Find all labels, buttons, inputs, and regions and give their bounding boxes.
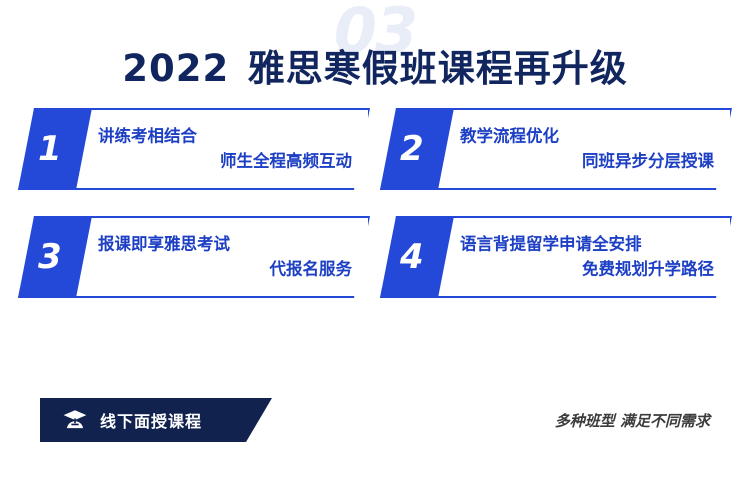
card-number: 2 — [400, 132, 424, 166]
card-line-2: 同班异步分层授课 — [460, 149, 716, 174]
card-line-2: 师生全程高频互动 — [98, 149, 354, 174]
card-text: 语言背提留学申请全安排 免费规划升学路径 — [460, 232, 716, 282]
card-line-1: 语言背提留学申请全安排 — [460, 232, 716, 257]
offline-course-tag[interactable]: 线下面授课程 — [40, 398, 272, 442]
card-text: 讲练考相结合 师生全程高频互动 — [98, 124, 354, 174]
title-year: 2022 — [122, 47, 229, 90]
card-line-2: 代报名服务 — [98, 257, 354, 282]
card-number: 3 — [38, 240, 62, 274]
title-main: 雅思寒假班课程再升级 — [248, 47, 628, 90]
card-number: 4 — [400, 240, 424, 274]
page-title: 2022 雅思寒假班课程再升级 — [0, 38, 750, 92]
feature-card[interactable]: 3 报课即享雅思考试 代报名服务 — [18, 216, 370, 298]
footer: 线下面授课程 多种班型 满足不同需求 — [0, 398, 750, 454]
card-number: 1 — [38, 132, 62, 166]
footer-note: 多种班型 满足不同需求 — [555, 410, 710, 431]
card-line-1: 讲练考相结合 — [98, 124, 354, 149]
card-line-1: 教学流程优化 — [460, 124, 716, 149]
card-text: 报课即享雅思考试 代报名服务 — [98, 232, 354, 282]
card-text: 教学流程优化 同班异步分层授课 — [460, 124, 716, 174]
feature-card[interactable]: 2 教学流程优化 同班异步分层授课 — [380, 108, 732, 190]
card-line-2: 免费规划升学路径 — [460, 257, 716, 282]
header: 03 2022 雅思寒假班课程再升级 — [0, 0, 750, 108]
feature-card-grid: 1 讲练考相结合 师生全程高频互动 2 教学流程优化 同班异步分层授课 3 报课… — [18, 108, 732, 298]
graduation-cap-icon — [62, 407, 88, 433]
card-line-1: 报课即享雅思考试 — [98, 232, 354, 257]
feature-card[interactable]: 4 语言背提留学申请全安排 免费规划升学路径 — [380, 216, 732, 298]
offline-course-tag-label: 线下面授课程 — [100, 408, 202, 432]
feature-card[interactable]: 1 讲练考相结合 师生全程高频互动 — [18, 108, 370, 190]
